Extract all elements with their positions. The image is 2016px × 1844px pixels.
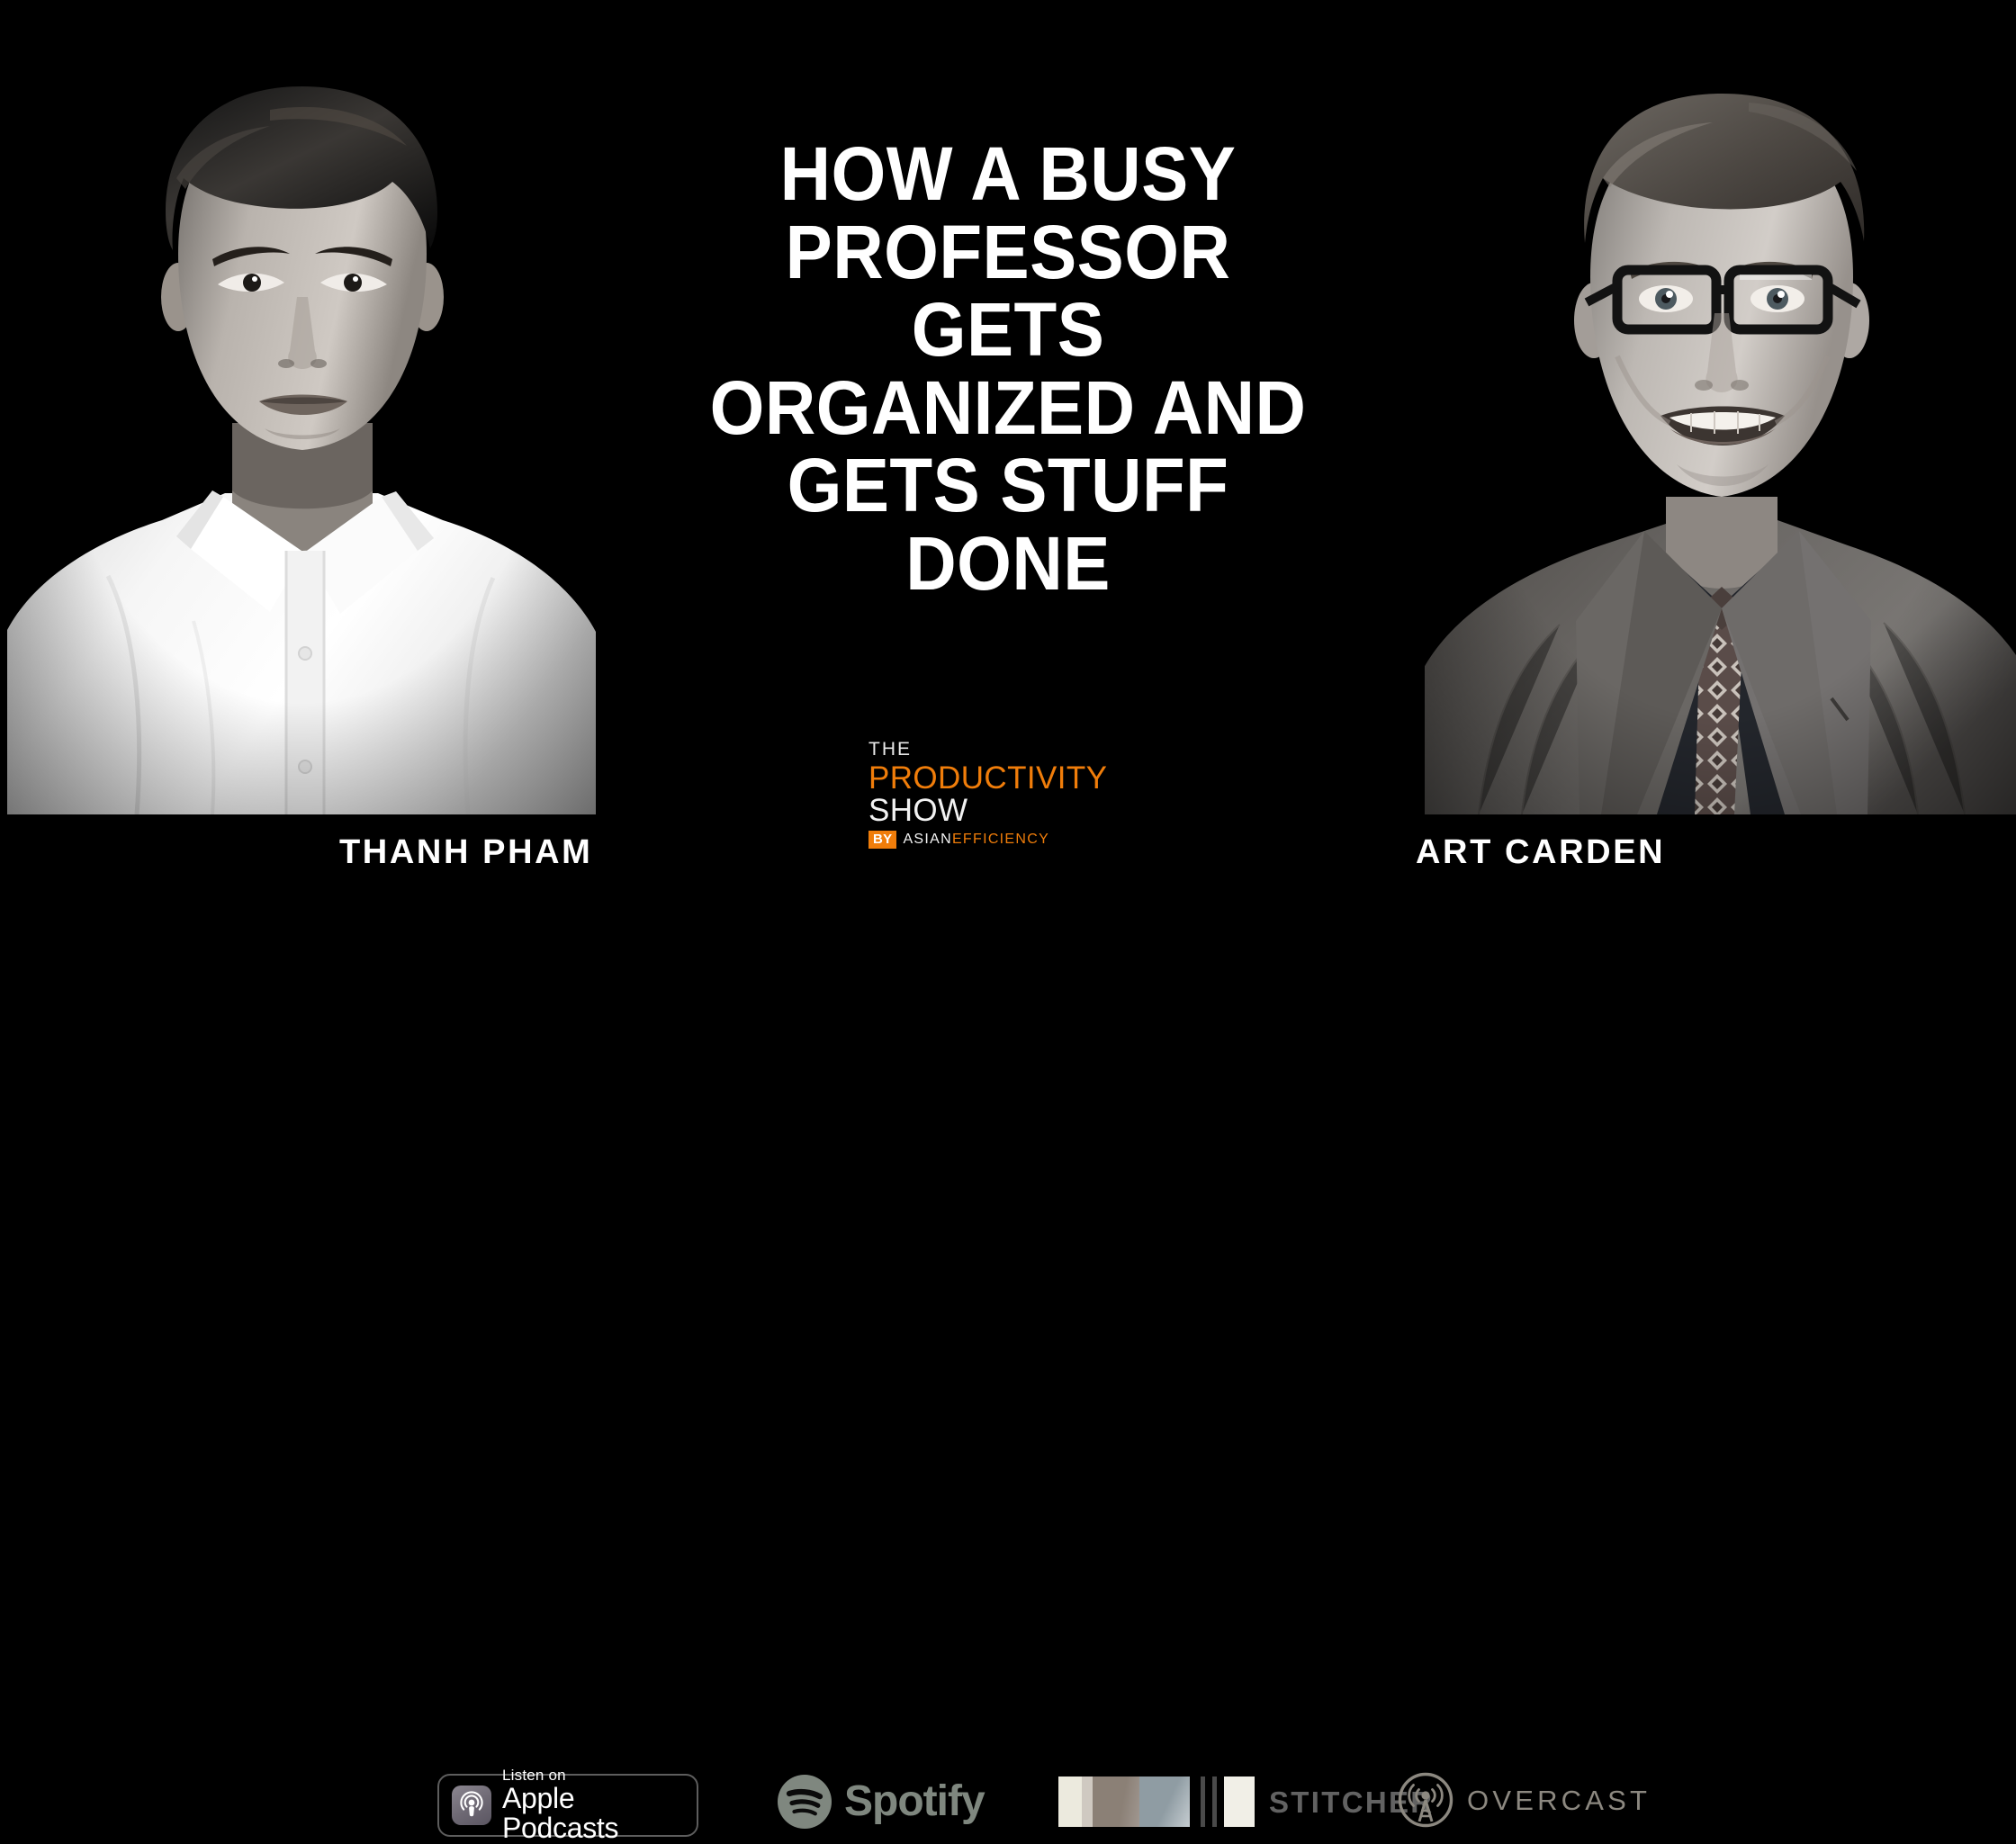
title-line-3: GETS bbox=[589, 291, 1426, 369]
apple-podcasts-label: Apple Podcasts bbox=[502, 1784, 697, 1842]
podcast-show-logo: THE PRODUCTIVITY SHOW BY ASIANEFFICIENCY bbox=[868, 740, 1138, 849]
stitcher-gap-2 bbox=[1205, 1777, 1212, 1827]
stitcher-bar-5 bbox=[1224, 1777, 1255, 1827]
logo-byline: BY ASIANEFFICIENCY bbox=[868, 831, 1138, 849]
brand-efficiency: EFFICIENCY bbox=[952, 832, 1049, 847]
portrait-illustration-left bbox=[0, 0, 605, 814]
guest-name-right: ART CARDEN bbox=[1416, 835, 1665, 869]
title-line-2: PROFESSOR bbox=[589, 213, 1426, 292]
stitcher-bar-4 bbox=[1139, 1777, 1190, 1827]
title-line-4: ORGANIZED AND bbox=[589, 369, 1426, 447]
spotify-badge[interactable]: Spotify bbox=[776, 1773, 985, 1831]
episode-title: HOW A BUSY PROFESSOR GETS ORGANIZED AND … bbox=[589, 135, 1426, 602]
stitcher-gap-1 bbox=[1190, 1777, 1201, 1827]
overcast-label: OVERCAST bbox=[1467, 1786, 1651, 1814]
logo-line-show: SHOW bbox=[868, 795, 1138, 827]
apple-podcasts-text: Listen on Apple Podcasts bbox=[502, 1768, 697, 1842]
portrait-illustration-right bbox=[1425, 0, 2016, 814]
apple-podcasts-badge[interactable]: Listen on Apple Podcasts bbox=[437, 1774, 698, 1837]
apple-podcasts-icon bbox=[452, 1786, 491, 1825]
platform-badge-row: Listen on Apple Podcasts Spotify bbox=[0, 882, 2016, 981]
brand-asian: ASIAN bbox=[903, 832, 952, 847]
stitcher-gap-3 bbox=[1217, 1777, 1224, 1827]
title-line-1: HOW A BUSY bbox=[589, 135, 1426, 213]
spotify-label: Spotify bbox=[844, 1780, 985, 1823]
stitcher-bar-1 bbox=[1058, 1777, 1082, 1827]
stitcher-bars-icon bbox=[1058, 1777, 1255, 1827]
byline-brand: ASIANEFFICIENCY bbox=[903, 832, 1049, 847]
spotify-icon bbox=[776, 1773, 833, 1831]
guest-photo-thanh-pham bbox=[0, 0, 605, 814]
guest-photo-art-carden bbox=[1425, 0, 2016, 814]
logo-line-the: THE bbox=[868, 740, 1138, 759]
stitcher-bar-2 bbox=[1082, 1777, 1093, 1827]
stitcher-bar-3 bbox=[1093, 1777, 1139, 1827]
episode-artwork: HOW A BUSY PROFESSOR GETS ORGANIZED AND … bbox=[0, 0, 2016, 1134]
byline-badge: BY bbox=[868, 831, 896, 849]
overcast-antenna-icon bbox=[1397, 1771, 1454, 1829]
guest-name-left: THANH PHAM bbox=[339, 835, 592, 869]
apple-podcasts-prefix: Listen on bbox=[502, 1768, 697, 1784]
overcast-badge[interactable]: OVERCAST bbox=[1397, 1771, 1651, 1829]
title-line-5: GETS STUFF bbox=[589, 446, 1426, 525]
logo-line-productivity: PRODUCTIVITY bbox=[868, 762, 1138, 795]
title-line-6: DONE bbox=[589, 525, 1426, 603]
stitcher-badge[interactable]: STITCHER bbox=[1058, 1777, 1434, 1827]
